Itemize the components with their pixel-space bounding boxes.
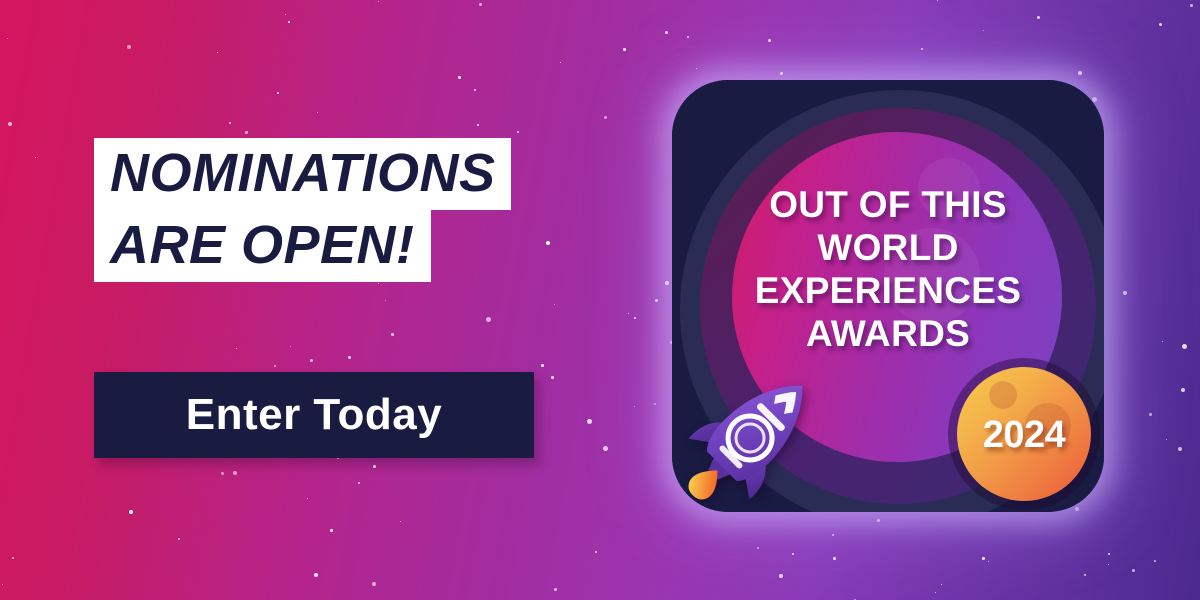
- star-dot: [479, 3, 482, 6]
- star-dot: [1149, 413, 1152, 416]
- star-dot: [1123, 291, 1127, 295]
- star-dot: [1181, 388, 1185, 392]
- star-dot: [554, 304, 555, 305]
- star-dot: [373, 465, 376, 468]
- star-dot: [587, 419, 592, 424]
- star-dot: [477, 124, 479, 126]
- star-dot: [1092, 97, 1097, 102]
- star-dot: [779, 574, 783, 578]
- star-dot: [290, 346, 291, 347]
- star-dot: [12, 557, 14, 559]
- star-dot: [129, 510, 133, 514]
- star-dot: [277, 92, 279, 94]
- star-dot: [665, 281, 669, 285]
- star-dot: [655, 299, 658, 302]
- star-dot: [236, 348, 237, 349]
- star-dot: [1037, 16, 1040, 19]
- star-dot: [1154, 560, 1156, 562]
- star-dot: [687, 36, 689, 38]
- star-dot: [314, 573, 318, 577]
- headline-block: NOMINATIONS ARE OPEN!: [94, 138, 564, 282]
- star-dot: [285, 14, 286, 15]
- star-dot: [921, 48, 923, 50]
- star-dot: [486, 317, 491, 322]
- star-dot: [541, 364, 544, 367]
- star-dot: [217, 52, 218, 53]
- star-dot: [1084, 574, 1086, 576]
- star-dot: [1078, 71, 1082, 75]
- star-dot: [757, 547, 759, 549]
- star-dot: [983, 30, 984, 31]
- star-dot: [458, 76, 461, 79]
- star-dot: [554, 588, 557, 591]
- star-dot: [400, 521, 401, 522]
- star-dot: [1178, 447, 1182, 451]
- star-dot: [935, 592, 936, 593]
- star-dot: [7, 38, 8, 39]
- star-dot: [623, 48, 626, 51]
- star-dot: [35, 157, 36, 158]
- star-dot: [634, 406, 635, 407]
- award-year: 2024: [948, 414, 1100, 457]
- star-dot: [654, 403, 656, 405]
- star-dot: [1182, 344, 1187, 349]
- star-dot: [1108, 564, 1109, 565]
- star-dot: [551, 376, 554, 379]
- star-dot: [665, 31, 668, 34]
- star-dot: [1132, 569, 1135, 572]
- star-dot: [696, 68, 697, 69]
- star-dot: [307, 498, 308, 499]
- star-dot: [560, 62, 561, 63]
- badge-title-line-4: AWARDS: [700, 313, 1076, 356]
- star-dot: [391, 333, 394, 336]
- rocket-icon: [680, 358, 830, 508]
- star-dot: [233, 471, 237, 475]
- badge-title-line-2: WORLD: [700, 227, 1076, 270]
- star-dot: [1162, 341, 1163, 342]
- star-dot: [1108, 553, 1110, 555]
- star-dot: [2, 584, 3, 585]
- page-title: NOMINATIONS ARE OPEN!: [94, 138, 564, 282]
- star-dot: [274, 365, 276, 367]
- star-dot: [1166, 439, 1167, 440]
- award-badge: OUT OF THIS WORLD EXPERIENCES AWARDS: [672, 80, 1104, 512]
- star-dot: [1159, 23, 1162, 26]
- star-dot: [1190, 4, 1193, 7]
- star-dot: [792, 553, 794, 555]
- headline-line-1: NOMINATIONS: [94, 138, 511, 210]
- star-dot: [310, 359, 313, 362]
- star-dot: [604, 116, 607, 119]
- badge-title-line-3: EXPERIENCES: [700, 270, 1076, 313]
- badge-title-line-1: OUT OF THIS: [700, 184, 1076, 227]
- star-dot: [628, 313, 629, 314]
- star-dot: [982, 557, 985, 560]
- star-dot: [603, 446, 608, 451]
- star-dot: [330, 529, 333, 532]
- star-dot: [780, 72, 783, 75]
- star-dot: [833, 557, 836, 560]
- star-dot: [378, 283, 379, 284]
- star-dot: [595, 551, 597, 553]
- star-dot: [937, 0, 938, 1]
- star-dot: [385, 300, 386, 301]
- star-dot: [245, 131, 248, 134]
- star-dot: [317, 112, 318, 113]
- star-dot: [229, 122, 231, 124]
- star-dot: [358, 482, 360, 484]
- promo-banner: NOMINATIONS ARE OPEN! Enter Today OUT OF…: [0, 0, 1200, 600]
- star-dot: [178, 538, 180, 540]
- star-dot: [8, 122, 12, 126]
- star-dot: [348, 356, 351, 359]
- planet-crater-a: [989, 381, 1017, 409]
- star-dot: [768, 39, 771, 42]
- star-dot: [474, 89, 476, 91]
- star-dot: [634, 317, 636, 319]
- badge-card: OUT OF THIS WORLD EXPERIENCES AWARDS: [672, 80, 1104, 512]
- headline-line-2: ARE OPEN!: [94, 210, 431, 282]
- star-dot: [378, 1, 379, 2]
- star-dot: [941, 584, 942, 585]
- enter-today-button[interactable]: Enter Today: [94, 372, 534, 458]
- star-dot: [288, 21, 290, 23]
- star-dot: [832, 534, 834, 536]
- star-dot: [127, 45, 131, 49]
- star-dot: [372, 582, 376, 586]
- star-dot: [877, 519, 880, 522]
- planet-badge: 2024: [948, 358, 1100, 510]
- star-dot: [221, 472, 224, 475]
- star-dot: [517, 131, 519, 133]
- star-dot: [988, 561, 989, 562]
- badge-title: OUT OF THIS WORLD EXPERIENCES AWARDS: [672, 184, 1104, 356]
